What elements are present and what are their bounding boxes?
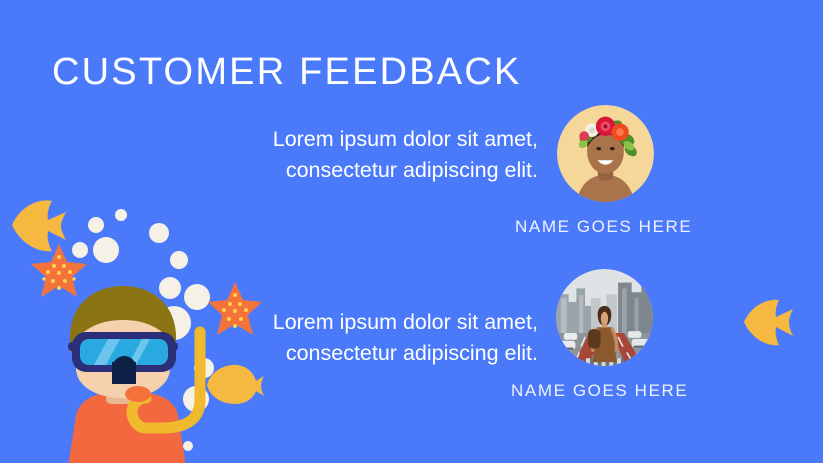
page-title: CUSTOMER FEEDBACK — [52, 51, 522, 94]
starfish-left-icon — [30, 243, 88, 299]
bubbles-decoration — [76, 203, 236, 453]
angelfish-bottom-icon — [204, 362, 266, 406]
avatar-2 — [556, 269, 653, 366]
testimonial-quote-1: Lorem ipsum dolor sit amet, consectetur … — [218, 124, 538, 185]
avatar-1 — [557, 105, 654, 202]
angelfish-left-icon — [8, 196, 70, 254]
testimonial-quote-2: Lorem ipsum dolor sit amet, consectetur … — [218, 307, 538, 368]
angelfish-right-icon — [741, 296, 797, 348]
slide-canvas: CUSTOMER FEEDBACK Lorem ipsum dolor sit … — [0, 0, 823, 463]
snorkeler-illustration — [50, 282, 240, 463]
testimonial-name-1: NAME GOES HERE — [515, 217, 692, 237]
testimonial-name-2: NAME GOES HERE — [511, 381, 688, 401]
